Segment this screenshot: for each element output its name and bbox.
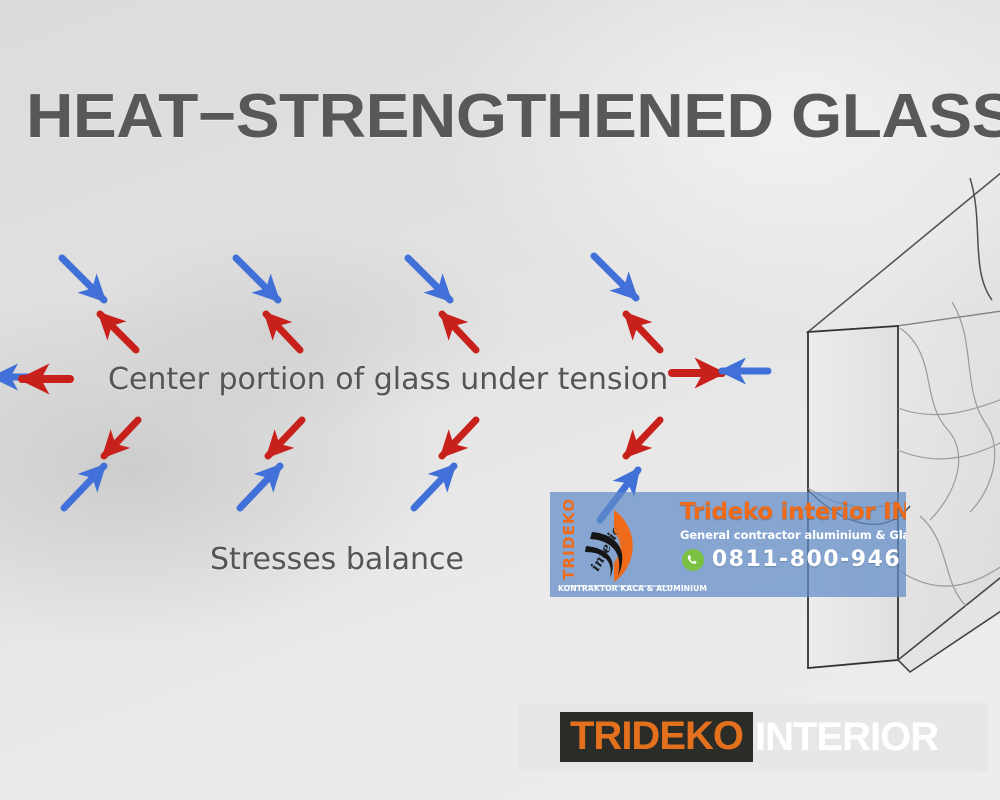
logo-tagline: KONTRAKTOR KACA & ALUMINIUM	[558, 584, 678, 593]
compression-arrows-top	[62, 256, 636, 300]
stress-arrows	[0, 0, 1000, 800]
watermark-text-block: Trideko interior IND General contractor …	[680, 500, 902, 572]
tension-arrows-top	[100, 314, 660, 350]
watermark-banner: TRIDEKO interior KONTRAKTOR KACA & ALUMI…	[550, 492, 906, 597]
watermark-phone-row: 0811-800-946	[680, 547, 902, 572]
watermark-subtitle: General contractor aluminium & Glass	[680, 528, 902, 542]
poster-canvas: HEAT−STRENGTHENED GLASS	[0, 0, 1000, 800]
caption-tension: Center portion of glass under tension	[108, 362, 668, 397]
tension-arrows-bottom	[104, 420, 660, 456]
brand-box: TRIDEKO	[560, 712, 753, 762]
whatsapp-icon	[681, 548, 705, 572]
watermark-phone: 0811-800-946	[712, 547, 901, 572]
caption-balance: Stresses balance	[210, 542, 464, 577]
watermark-title: Trideko interior IND	[680, 500, 902, 524]
logo-vertical-name: TRIDEKO	[560, 498, 578, 580]
brand-name-secondary: INTERIOR	[755, 717, 938, 757]
brand-footer: TRIDEKO INTERIOR	[518, 703, 988, 771]
trideko-logo-mark: TRIDEKO interior	[556, 494, 680, 595]
brand-name-primary: TRIDEKO	[570, 714, 743, 758]
